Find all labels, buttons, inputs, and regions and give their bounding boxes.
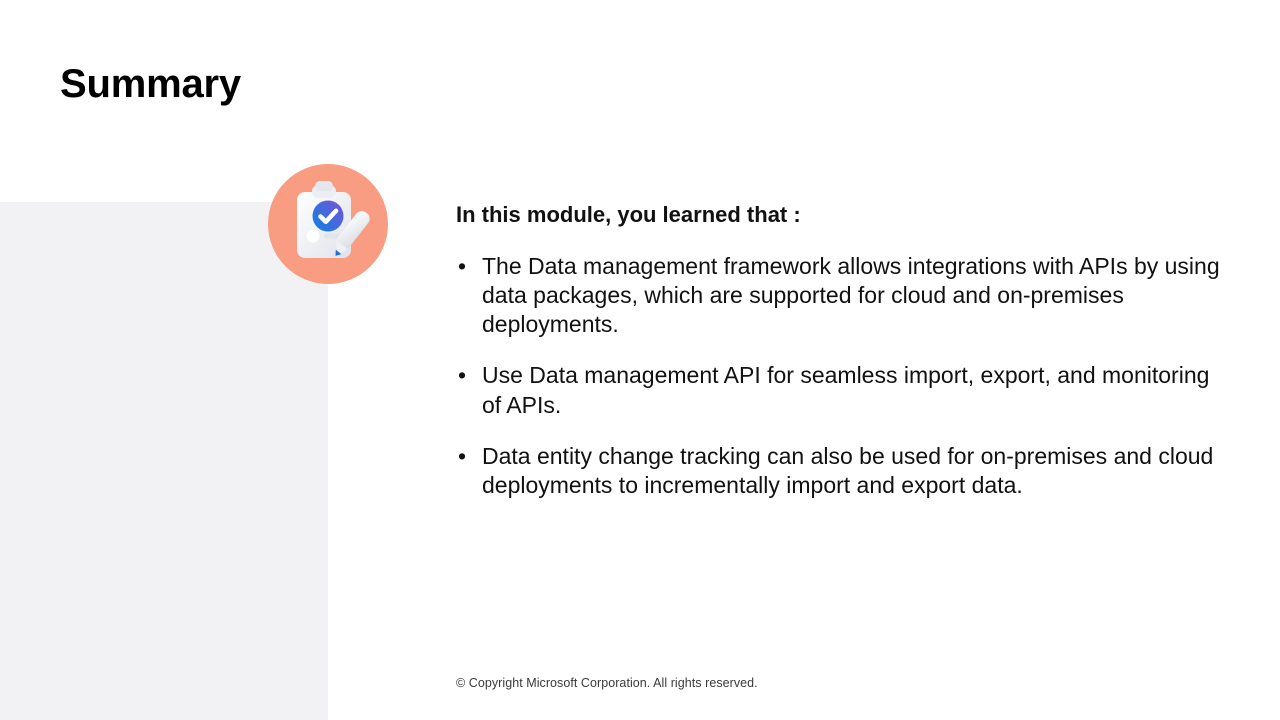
icon-badge-circle bbox=[268, 164, 388, 284]
list-item-text: Data entity change tracking can also be … bbox=[482, 443, 1213, 498]
bullet-marker-icon: • bbox=[458, 252, 466, 281]
bullet-marker-icon: • bbox=[458, 361, 466, 390]
page-title: Summary bbox=[60, 62, 241, 106]
list-item-text: Use Data management API for seamless imp… bbox=[482, 362, 1209, 417]
list-item: • Use Data management API for seamless i… bbox=[456, 361, 1226, 419]
list-item: • Data entity change tracking can also b… bbox=[456, 442, 1226, 500]
list-item: • The Data management framework allows i… bbox=[456, 252, 1226, 340]
copyright-footer: © Copyright Microsoft Corporation. All r… bbox=[456, 676, 758, 690]
body-content: In this module, you learned that : • The… bbox=[456, 200, 1226, 500]
lead-statement: In this module, you learned that : bbox=[456, 200, 1226, 230]
list-item-text: The Data management framework allows int… bbox=[482, 253, 1220, 337]
bullet-marker-icon: • bbox=[458, 442, 466, 471]
summary-bullet-list: • The Data management framework allows i… bbox=[456, 252, 1226, 500]
clipboard-checkmark-pen-icon bbox=[268, 164, 388, 284]
slide-canvas: Summary bbox=[0, 0, 1280, 720]
